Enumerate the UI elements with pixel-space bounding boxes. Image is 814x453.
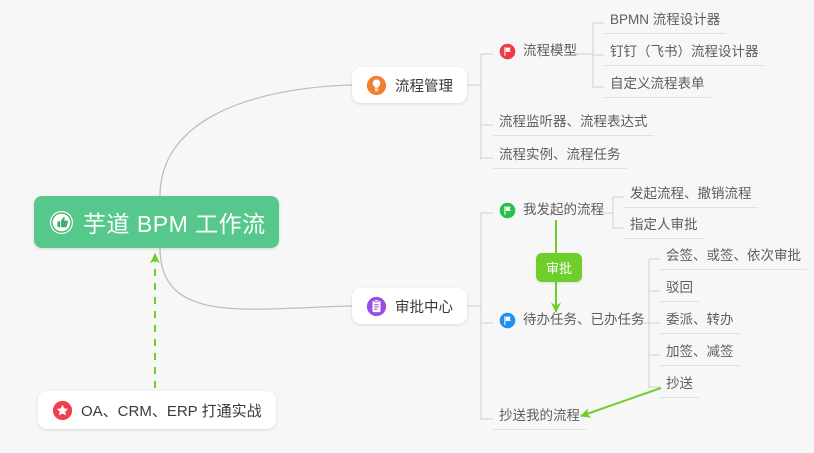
branch-process-management[interactable]: 流程管理 [352,67,467,103]
item-assignee-approval[interactable]: 指定人审批 [624,215,704,239]
item-countersign[interactable]: 会签、或签、依次审批 [660,246,807,270]
integration-note-node[interactable]: OA、CRM、ERP 打通实战 [38,391,276,429]
thumbs-up-icon [50,211,73,234]
flag-blue-icon [499,312,516,329]
item-delegate-transfer[interactable]: 委派、转办 [660,310,740,334]
flag-green-icon [499,202,516,219]
item-instance-task[interactable]: 流程实例、流程任务 [493,145,627,169]
root-node[interactable]: 芋道 BPM 工作流 [34,196,279,248]
branch-approval-center[interactable]: 审批中心 [352,288,467,324]
approval-tag[interactable]: 审批 [536,253,582,282]
lightbulb-icon [366,75,387,96]
item-todo-done-tasks[interactable]: 待办任务、已办任务 [493,310,651,333]
item-reject[interactable]: 驳回 [660,278,699,302]
item-cc-to-me[interactable]: 抄送我的流程 [493,406,586,430]
item-my-initiated[interactable]: 我发起的流程 [493,200,610,223]
item-dingtalk-designer[interactable]: 钉钉（飞书）流程设计器 [604,42,765,66]
integration-note-label: OA、CRM、ERP 打通实战 [81,400,262,421]
mindmap-canvas: 芋道 BPM 工作流 流程管理 流程模型 BPMN 流程设计器 钉钉（飞书）流程 [0,0,814,453]
flag-red-icon [499,43,516,60]
approval-tag-label: 审批 [546,261,572,276]
branch-label: 审批中心 [395,296,453,317]
item-process-model[interactable]: 流程模型 [493,41,583,64]
link-root-to-approval-center [160,248,352,309]
item-listener-expression[interactable]: 流程监听器、流程表达式 [493,112,654,136]
link-root-to-process-management [160,85,352,196]
arrow-cc-link [581,388,661,416]
item-label: 流程模型 [523,41,577,60]
item-custom-form[interactable]: 自定义流程表单 [604,74,711,98]
star-icon [52,400,73,421]
item-start-cancel-process[interactable]: 发起流程、撤销流程 [624,184,758,208]
clipboard-purple-icon [366,296,387,317]
root-label: 芋道 BPM 工作流 [83,205,266,239]
item-bpmn-designer[interactable]: BPMN 流程设计器 [604,10,726,34]
item-add-remove-sign[interactable]: 加签、减签 [660,342,740,366]
branch-label: 流程管理 [395,75,453,96]
item-cc[interactable]: 抄送 [660,374,699,398]
